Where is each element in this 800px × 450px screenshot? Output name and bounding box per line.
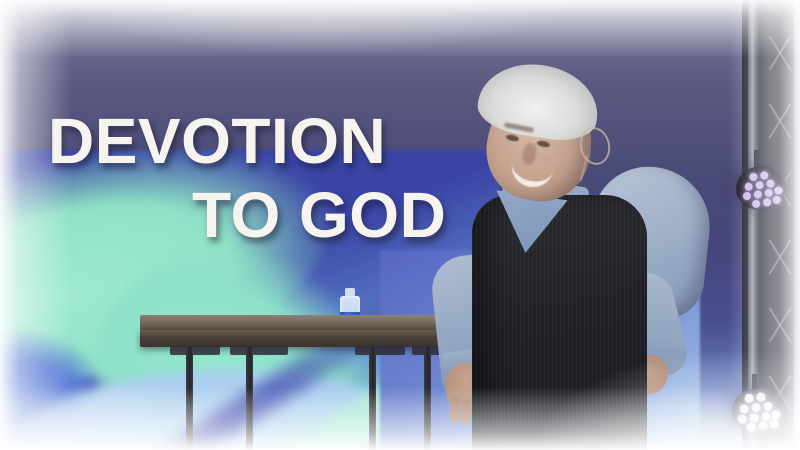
speaker-finger (461, 399, 472, 425)
title-line-1: DEVOTION (48, 104, 800, 178)
title-line-2: TO GOD (192, 178, 800, 252)
table-leg (186, 346, 193, 450)
table-top-edge (140, 315, 460, 331)
table-leg (246, 346, 253, 450)
video-thumbnail: DEVOTION TO GOD (0, 0, 800, 450)
truss-cross-brace (764, 292, 794, 360)
speaker-finger (449, 397, 461, 424)
table-brace (230, 346, 288, 355)
truss-cross-brace (764, 20, 794, 88)
table-brace (355, 346, 405, 355)
table-leg (369, 346, 376, 450)
title-block: DEVOTION TO GOD (0, 104, 800, 252)
table-top (140, 330, 460, 347)
table-brace (170, 346, 220, 355)
